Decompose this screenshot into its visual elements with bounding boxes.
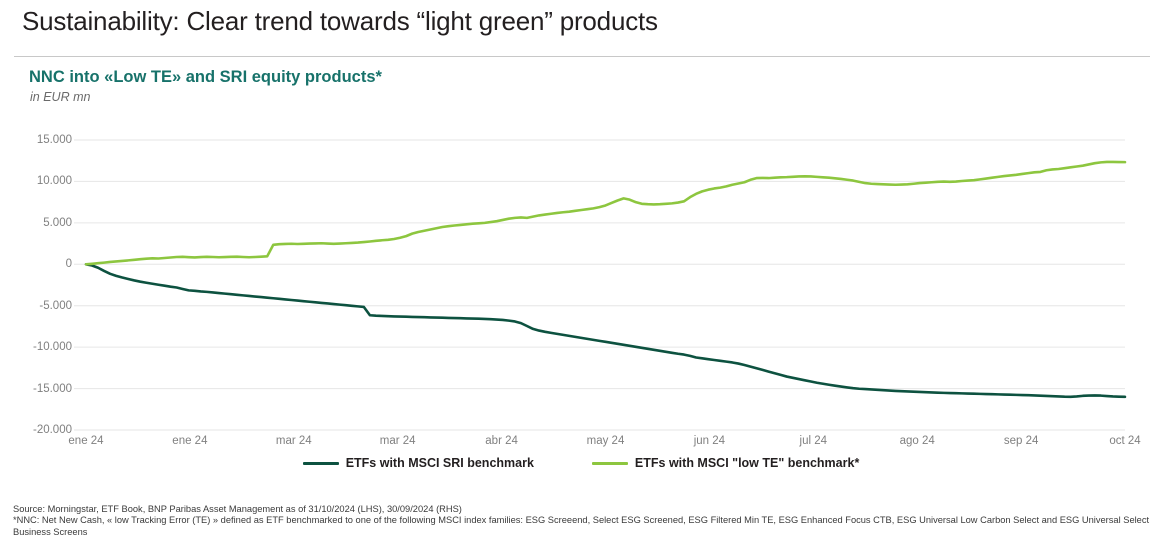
footnotes: Source: Morningstar, ETF Book, BNP Parib… [13, 504, 1153, 538]
legend-label: ETFs with MSCI SRI benchmark [346, 456, 534, 470]
y-tick-label: -20.000 [8, 424, 72, 436]
y-tick-label: -5.000 [8, 300, 72, 312]
series-line-1 [86, 162, 1125, 264]
footnote-source: Source: Morningstar, ETF Book, BNP Parib… [13, 504, 1153, 515]
x-tick-label: mar 24 [276, 435, 312, 447]
slide: Sustainability: Clear trend towards “lig… [0, 0, 1162, 546]
chart-legend: ETFs with MSCI SRI benchmarkETFs with MS… [0, 456, 1162, 470]
series-line-0 [86, 264, 1125, 397]
x-tick-label: jun 24 [694, 435, 725, 447]
y-tick-label: -10.000 [8, 341, 72, 353]
legend-item-1[interactable]: ETFs with MSCI "low TE" benchmark* [592, 456, 859, 470]
y-tick-label: 10.000 [8, 175, 72, 187]
legend-item-0[interactable]: ETFs with MSCI SRI benchmark [303, 456, 534, 470]
x-tick-label: mar 24 [380, 435, 416, 447]
legend-swatch-icon [592, 462, 628, 465]
chart-gridlines [74, 140, 1125, 430]
y-tick-label: 15.000 [8, 134, 72, 146]
y-tick-label: 0 [8, 258, 72, 270]
x-tick-label: ene 24 [172, 435, 207, 447]
footnote-definition: *NNC: Net New Cash, « low Tracking Error… [13, 515, 1153, 538]
x-tick-label: may 24 [587, 435, 625, 447]
x-tick-label: abr 24 [485, 435, 518, 447]
legend-label: ETFs with MSCI "low TE" benchmark* [635, 456, 859, 470]
x-tick-label: sep 24 [1004, 435, 1039, 447]
chart-series-lines [86, 162, 1125, 397]
x-tick-label: ago 24 [900, 435, 935, 447]
x-tick-label: oct 24 [1109, 435, 1140, 447]
legend-swatch-icon [303, 462, 339, 465]
x-tick-label: ene 24 [68, 435, 103, 447]
x-tick-label: jul 24 [800, 435, 828, 447]
y-tick-label: 5.000 [8, 217, 72, 229]
y-tick-label: -15.000 [8, 383, 72, 395]
